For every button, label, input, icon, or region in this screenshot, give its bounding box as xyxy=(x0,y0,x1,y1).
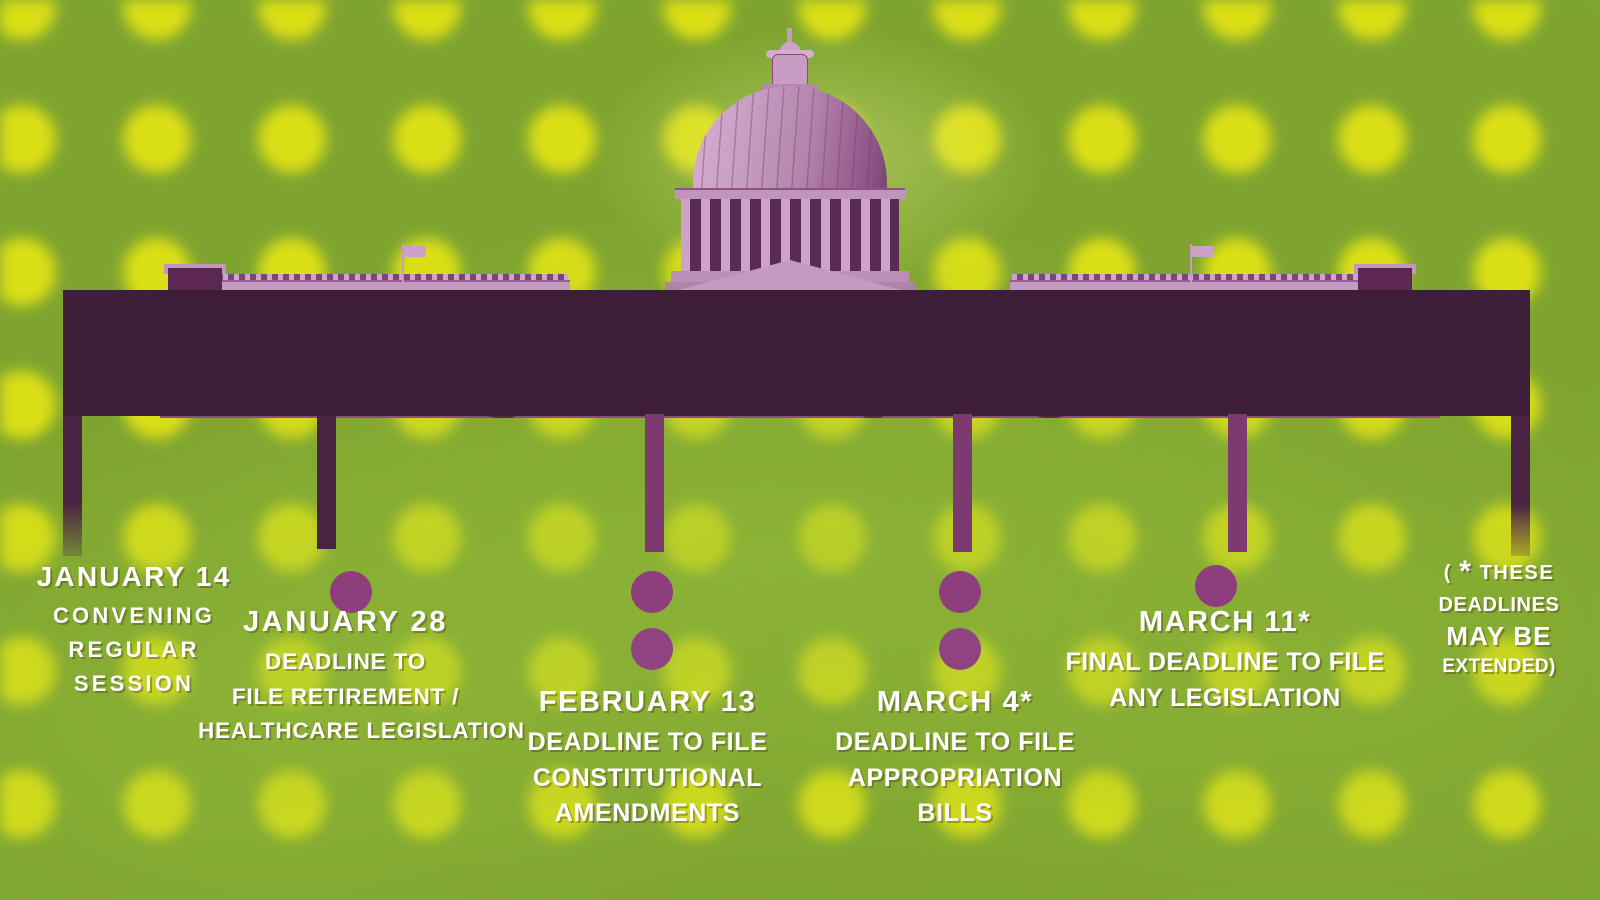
timeline-node-mar-11 xyxy=(1195,565,1237,607)
milestone-description: FINAL DEADLINE TO FILE ANY LEGISLATION xyxy=(1035,645,1415,716)
milestone-line: AMENDMENTS xyxy=(500,796,795,832)
footnote-line-3: MAY BE xyxy=(1408,619,1590,654)
dome-cornice xyxy=(675,188,905,199)
timeline-node-mar-04-a xyxy=(939,571,981,613)
timeline-stem-mar-11 xyxy=(1228,414,1247,552)
milestone-mar-11: MARCH 11* FINAL DEADLINE TO FILE ANY LEG… xyxy=(1035,605,1415,716)
timeline-stem-footnote xyxy=(1511,416,1530,556)
milestone-date: FEBRUARY 13 xyxy=(500,685,795,720)
milestone-line: CONSTITUTIONAL xyxy=(500,761,795,797)
flag-left xyxy=(404,246,426,257)
milestone-line: APPROPRIATION xyxy=(810,761,1100,797)
milestone-description: DEADLINE TO FILE RETIREMENT / HEALTHCARE… xyxy=(198,645,493,748)
building-base xyxy=(160,416,1440,418)
milestone-line: DEADLINE TO FILE xyxy=(810,725,1100,761)
milestone-description: DEADLINE TO FILE CONSTITUTIONAL AMENDMEN… xyxy=(500,725,795,832)
milestone-date: JANUARY 14 xyxy=(0,560,268,594)
timeline-node-mar-04-b xyxy=(939,628,981,670)
dome-lantern xyxy=(772,54,808,86)
timeline-node-feb-13-b xyxy=(631,628,673,670)
asterisk-icon: * xyxy=(1459,555,1472,588)
footnote: ( * THESE DEADLINES MAY BE EXTENDED) xyxy=(1408,552,1590,679)
timeline-node-feb-13-a xyxy=(631,571,673,613)
dome-ribs xyxy=(693,86,887,194)
milestone-line: FINAL DEADLINE TO FILE xyxy=(1035,645,1415,681)
footnote-line-2: DEADLINES xyxy=(1408,592,1590,619)
footnote-line-1-text: THESE xyxy=(1480,562,1555,584)
milestone-line: HEALTHCARE LEGISLATION xyxy=(198,714,493,748)
timeline-stem-jan-28 xyxy=(317,416,336,549)
flag-right xyxy=(1192,246,1214,257)
milestone-line: ANY LEGISLATION xyxy=(1035,681,1415,717)
milestone-line: FILE RETIREMENT / xyxy=(198,680,493,714)
milestone-date: JANUARY 28 xyxy=(198,605,493,640)
milestone-description: DEADLINE TO FILE APPROPRIATION BILLS xyxy=(810,725,1100,832)
timeline-stem-jan-14 xyxy=(63,416,82,556)
milestone-date: MARCH 11* xyxy=(1035,605,1415,640)
timeline-bar-image-overlay xyxy=(150,290,1450,416)
footnote-line-4: EXTENDED) xyxy=(1408,654,1590,679)
footnote-open-paren: ( xyxy=(1444,562,1452,584)
milestone-line: BILLS xyxy=(810,796,1100,832)
footnote-line-1: ( * THESE xyxy=(1408,552,1590,592)
milestone-jan-28: JANUARY 28 DEADLINE TO FILE RETIREMENT /… xyxy=(198,605,493,748)
milestone-line: DEADLINE TO FILE xyxy=(500,725,795,761)
milestone-line: DEADLINE TO xyxy=(198,645,493,679)
milestone-feb-13: FEBRUARY 13 DEADLINE TO FILE CONSTITUTIO… xyxy=(500,685,795,832)
timeline-stem-mar-04 xyxy=(953,414,972,552)
timeline-stem-feb-13 xyxy=(645,414,664,552)
